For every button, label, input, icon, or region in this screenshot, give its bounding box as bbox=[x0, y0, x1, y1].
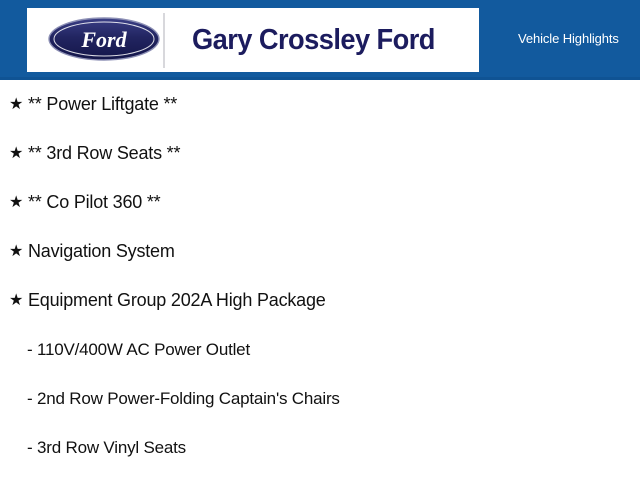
section-label-vehicle-highlights: Vehicle Highlights bbox=[518, 31, 619, 46]
list-item: ★ ** 3rd Row Seats ** bbox=[0, 129, 640, 178]
vehicle-highlights-list: ★ ** Power Liftgate ** ★ ** 3rd Row Seat… bbox=[0, 80, 640, 472]
sub-list-item-label: 3rd Row Vinyl Seats bbox=[37, 438, 186, 458]
dealer-name: Gary Crossley Ford bbox=[192, 8, 435, 72]
sub-list-item: - 3rd Row Vinyl Seats bbox=[0, 423, 640, 472]
star-bullet-icon: ★ bbox=[9, 195, 28, 211]
list-item-label: ** Co Pilot 360 ** bbox=[28, 192, 160, 213]
list-item: ★ Navigation System bbox=[0, 227, 640, 276]
list-item-label: Navigation System bbox=[28, 241, 175, 262]
dash-bullet-icon: - bbox=[27, 390, 37, 407]
star-bullet-icon: ★ bbox=[9, 146, 28, 162]
list-item: ★ Equipment Group 202A High Package bbox=[0, 276, 640, 325]
list-item-label: ** Power Liftgate ** bbox=[28, 94, 177, 115]
list-item-label: ** 3rd Row Seats ** bbox=[28, 143, 180, 164]
list-item: ★ ** Power Liftgate ** bbox=[0, 80, 640, 129]
star-bullet-icon: ★ bbox=[9, 293, 28, 309]
star-bullet-icon: ★ bbox=[9, 244, 28, 260]
header-band: Ford Gary Crossley Ford Vehicle Highligh… bbox=[0, 0, 640, 80]
ford-oval-logo-icon: Ford bbox=[45, 14, 163, 64]
vehicle-highlights-page: Ford Gary Crossley Ford Vehicle Highligh… bbox=[0, 0, 640, 480]
sub-list-item-label: 110V/400W AC Power Outlet bbox=[37, 340, 250, 360]
dealer-brand-card: Ford Gary Crossley Ford bbox=[27, 8, 479, 72]
star-bullet-icon: ★ bbox=[9, 97, 28, 113]
sub-list-item: - 110V/400W AC Power Outlet bbox=[0, 325, 640, 374]
dash-bullet-icon: - bbox=[27, 439, 37, 456]
svg-text:Ford: Ford bbox=[80, 27, 127, 52]
sub-list-item-label: 2nd Row Power-Folding Captain's Chairs bbox=[37, 389, 340, 409]
list-item-label: Equipment Group 202A High Package bbox=[28, 290, 326, 311]
sub-list-item: - 2nd Row Power-Folding Captain's Chairs bbox=[0, 374, 640, 423]
brand-divider bbox=[163, 13, 165, 68]
list-item: ★ ** Co Pilot 360 ** bbox=[0, 178, 640, 227]
dash-bullet-icon: - bbox=[27, 341, 37, 358]
